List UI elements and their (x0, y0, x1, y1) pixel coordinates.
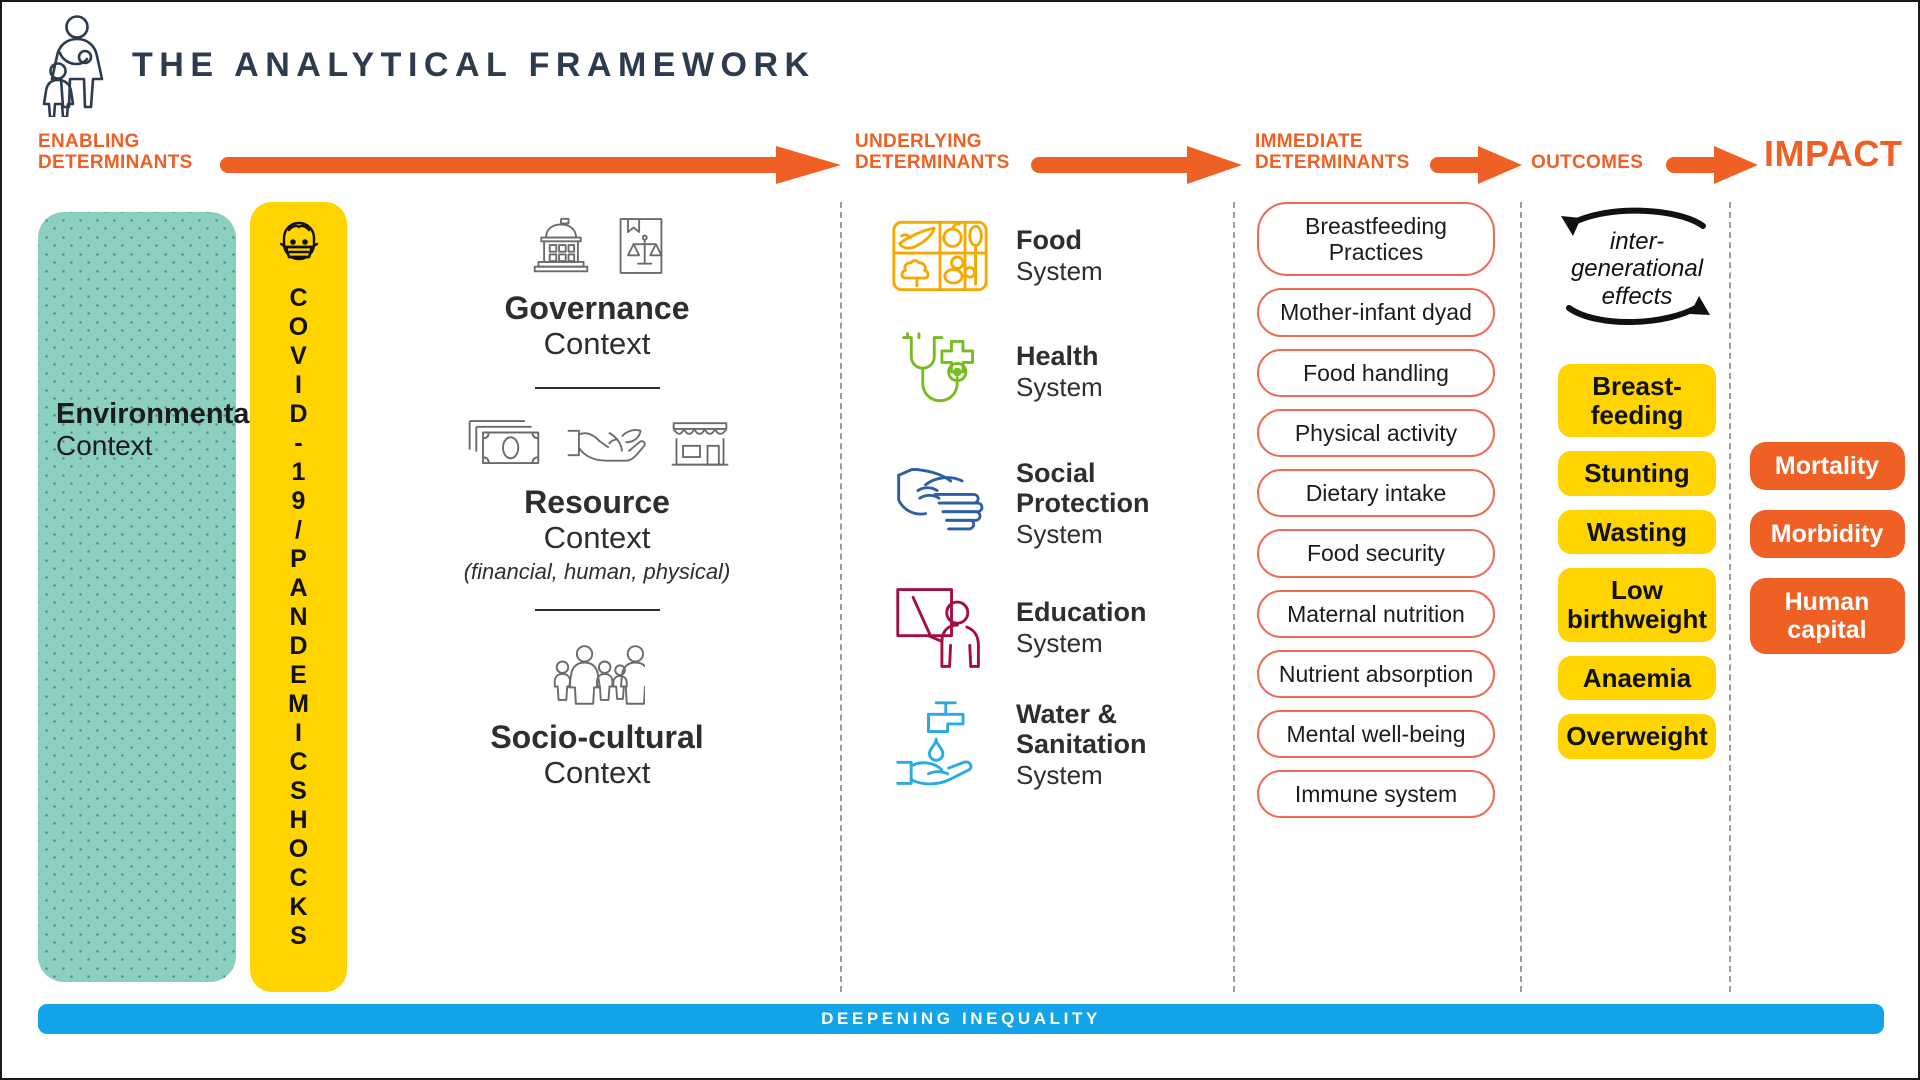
determinant-pill[interactable]: Maternal nutrition (1257, 590, 1495, 638)
impact-column: Mortality Morbidity Human capital (1747, 442, 1907, 674)
page-title: THE ANALYTICAL FRAMEWORK (132, 46, 816, 85)
column-divider-3 (1520, 202, 1522, 992)
covid-letter: C (289, 748, 307, 777)
stage-banner: ENABLING DETERMINANTS UNDERLYING DETERMI… (2, 127, 1920, 189)
determinant-pill[interactable]: Breastfeeding Practices (1257, 202, 1495, 276)
outcome-badge[interactable]: Wasting (1558, 510, 1716, 555)
stage-label-impact: IMPACT (1764, 135, 1902, 174)
system-subtitle-health: System (1016, 372, 1103, 402)
framework-body: Environmental Context C O (2, 202, 1920, 992)
covid-letter: I (295, 719, 302, 748)
environmental-context-text: Environmental Context (46, 398, 228, 463)
system-row-education: Education System (888, 580, 1147, 676)
family-group-icon (549, 642, 645, 711)
system-label-food: Food System (1016, 226, 1103, 286)
arrow-enabling-to-underlying (216, 146, 841, 184)
resource-subtitle: Context (362, 520, 832, 557)
socio-cultural-context-block: Socio-cultural Context (362, 637, 832, 792)
covid-letter: I (295, 371, 302, 400)
socio-cultural-subtitle: Context (362, 755, 832, 792)
determinant-pill[interactable]: Food security (1257, 529, 1495, 577)
system-row-food: Food System (888, 208, 1103, 304)
covid-letter: P (290, 545, 307, 574)
covid-vertical-label: C O V I D - 1 9 / P A N D E M I C S H O (288, 284, 309, 951)
system-label-education: Education System (1016, 598, 1147, 658)
covid-letter: V (290, 342, 307, 371)
covid-letter: 1 (292, 458, 306, 487)
hand-with-seedling-icon (564, 415, 648, 476)
stage-label-underlying: UNDERLYING DETERMINANTS (855, 132, 1010, 173)
covid-letter: S (290, 777, 307, 806)
covid-letter: A (289, 574, 307, 603)
system-subtitle-social-protection: System (1016, 519, 1182, 549)
covid-letter: S (290, 922, 307, 951)
system-title-health: Health (1016, 342, 1103, 372)
covid-letter: D (289, 632, 307, 661)
determinant-pill[interactable]: Physical activity (1257, 409, 1495, 457)
governance-icons (362, 208, 832, 282)
governance-context-block: Governance Context (362, 208, 832, 389)
enabling-contexts-column: Governance Context (362, 202, 832, 992)
food-tray-icon (888, 208, 992, 304)
outcome-badge[interactable]: Breast- feeding (1558, 364, 1716, 437)
system-title-education: Education (1016, 598, 1147, 628)
mother-and-children-icon (36, 13, 110, 117)
covid-pandemic-shocks-panel: C O V I D - 1 9 / P A N D E M I C S H O (250, 202, 347, 992)
impact-badge[interactable]: Mortality (1750, 442, 1905, 490)
covid-letter: D (289, 400, 307, 429)
impact-badge[interactable]: Morbidity (1750, 510, 1905, 558)
system-subtitle-water-sanitation: System (1016, 760, 1182, 790)
market-stall-icon (668, 415, 732, 476)
arrow-outcomes-to-impact (1662, 146, 1758, 184)
resource-note: (financial, human, physical) (362, 559, 832, 585)
impact-badge[interactable]: Human capital (1750, 578, 1905, 654)
arrow-immediate-to-outcomes (1426, 146, 1522, 184)
intergenerational-label: inter- generational effects (1547, 228, 1727, 310)
underlying-systems-column: Food System Health System (862, 202, 1182, 992)
outcome-badge[interactable]: Anaemia (1558, 656, 1716, 701)
system-row-social-protection: Social Protection System (888, 456, 1182, 552)
baby-with-mask-icon (271, 216, 327, 272)
covid-letter: 9 (292, 487, 306, 516)
covid-letter: H (289, 806, 307, 835)
covid-letter: M (288, 690, 309, 719)
system-title-food: Food (1016, 226, 1103, 256)
system-label-health: Health System (1016, 342, 1103, 402)
resource-title: Resource (362, 485, 832, 520)
government-building-icon (527, 215, 595, 282)
law-scales-document-icon (615, 215, 667, 282)
system-title-water-sanitation: Water & Sanitation (1016, 700, 1182, 759)
system-subtitle-education: System (1016, 628, 1147, 658)
intergenerational-effects: inter- generational effects (1547, 202, 1727, 330)
resource-context-block: Resource Context (financial, human, phys… (362, 402, 832, 611)
environmental-subtitle: Context (56, 430, 228, 462)
column-divider-1 (840, 202, 842, 992)
determinant-pill[interactable]: Mental well-being (1257, 710, 1495, 758)
determinant-pill[interactable]: Food handling (1257, 349, 1495, 397)
system-label-water-sanitation: Water & Sanitation System (1016, 700, 1182, 790)
environmental-context-panel: Environmental Context (38, 212, 236, 982)
column-divider-2 (1233, 202, 1235, 992)
system-label-social-protection: Social Protection System (1016, 459, 1182, 549)
governance-title: Governance (362, 291, 832, 326)
tap-handwash-icon (888, 697, 992, 793)
helping-hands-icon (888, 456, 992, 552)
covid-letter: N (289, 603, 307, 632)
stethoscope-cross-icon (888, 324, 992, 420)
socio-cultural-title: Socio-cultural (362, 720, 832, 755)
covid-letter: K (289, 893, 307, 922)
outcome-badge[interactable]: Stunting (1558, 451, 1716, 496)
analytical-framework-diagram: THE ANALYTICAL FRAMEWORK ENABLING DETERM… (0, 0, 1920, 1080)
system-row-water-sanitation: Water & Sanitation System (888, 697, 1182, 793)
banknotes-icon (462, 415, 544, 476)
socio-cultural-icons (362, 637, 832, 711)
system-subtitle-food: System (1016, 256, 1103, 286)
column-divider-4 (1729, 202, 1731, 992)
determinant-pill[interactable]: Nutrient absorption (1257, 650, 1495, 698)
page-header: THE ANALYTICAL FRAMEWORK (36, 10, 816, 120)
system-row-health: Health System (888, 324, 1103, 420)
covid-letter: O (289, 835, 308, 864)
immediate-determinants-column: Breastfeeding Practices Mother-infant dy… (1257, 202, 1497, 830)
teacher-board-icon (888, 580, 992, 676)
determinant-pill[interactable]: Dietary intake (1257, 469, 1495, 517)
covid-letter: C (289, 284, 307, 313)
stage-label-immediate: IMMEDIATE DETERMINANTS (1255, 132, 1410, 173)
outcomes-column: inter- generational effects Breast- feed… (1547, 202, 1727, 773)
deepening-inequality-bar: DEEPENING INEQUALITY (38, 1004, 1884, 1034)
covid-letter: E (290, 661, 307, 690)
covid-letter: C (289, 864, 307, 893)
stage-label-outcomes: OUTCOMES (1531, 153, 1643, 174)
governance-subtitle: Context (362, 326, 832, 363)
resource-icons (362, 402, 832, 476)
stage-label-enabling: ENABLING DETERMINANTS (38, 132, 193, 173)
system-title-social-protection: Social Protection (1016, 459, 1182, 518)
context-divider-2 (535, 609, 660, 611)
outcome-badge[interactable]: Overweight (1558, 714, 1716, 759)
deepening-inequality-label: DEEPENING INEQUALITY (821, 1009, 1101, 1029)
covid-letter: / (295, 516, 302, 545)
covid-letter: - (294, 429, 302, 458)
determinant-pill[interactable]: Immune system (1257, 770, 1495, 818)
context-divider-1 (535, 387, 660, 389)
arrow-underlying-to-immediate (1027, 146, 1242, 184)
environmental-title: Environmental (56, 398, 228, 430)
outcome-badge[interactable]: Low birthweight (1558, 568, 1716, 641)
determinant-pill[interactable]: Mother-infant dyad (1257, 288, 1495, 336)
covid-letter: O (289, 313, 308, 342)
